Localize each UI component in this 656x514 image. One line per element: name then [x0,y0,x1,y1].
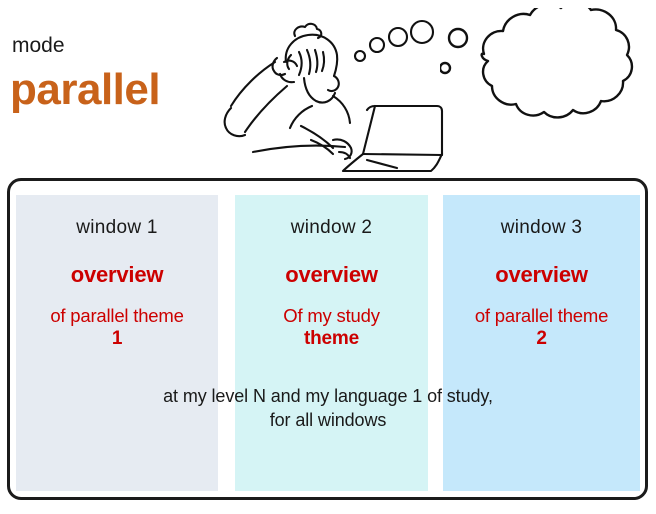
overview-desc-number-3: 2 [443,327,640,351]
person-at-laptop-thinking-icon [215,0,445,175]
overview-desc-3: of parallel theme 2 [443,304,640,351]
window-title-3: window 3 [443,217,640,239]
window-title-2: window 2 [235,217,428,239]
overview-label-2: overview [235,262,428,288]
overview-desc-1: of parallel theme 1 [16,304,218,351]
window-panel-1[interactable]: window 1 overview of parallel theme 1 [16,195,218,491]
overview-label-3: overview [443,262,640,288]
window-panel-3[interactable]: window 3 overview of parallel theme 2 [443,195,640,491]
overview-desc-number-1: 1 [16,327,218,351]
overview-desc-line-3: of parallel theme [475,305,608,326]
overview-label-1: overview [16,262,218,288]
window-panel-2[interactable]: window 2 overview Of my study theme [235,195,428,491]
page-title: parallel [10,68,160,112]
overview-desc-line-1: of parallel theme [50,305,183,326]
overview-desc-line-2: Of my study [283,305,380,326]
overview-desc-number-2: theme [235,327,428,351]
mode-label: mode [12,34,65,58]
overview-desc-2: Of my study theme [235,304,428,351]
window-title-1: window 1 [16,217,218,239]
thought-bubble-icon: I learn better by comparison [440,8,656,140]
